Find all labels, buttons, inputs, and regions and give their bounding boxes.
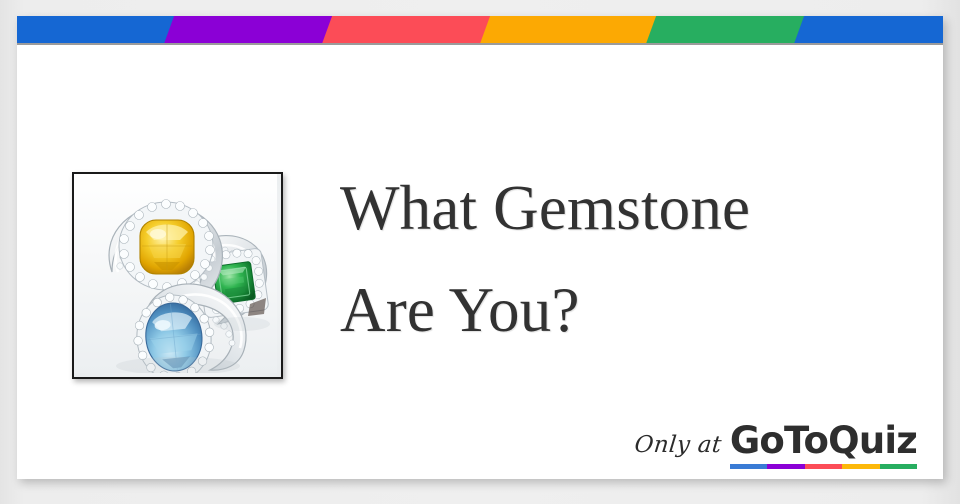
header-bar-segment-purple	[162, 16, 345, 43]
card-body: What Gemstone Are You? Only at GoToQuiz	[17, 45, 943, 479]
brand-underline-segment-0	[730, 464, 767, 469]
rainbow-header-bar	[17, 16, 943, 43]
header-bar-segment-green	[644, 16, 817, 43]
header-bar-segment-red	[320, 16, 503, 43]
only-at-label: Only at	[632, 432, 723, 469]
quiz-title-line1: What Gemstone	[340, 157, 920, 259]
brand-block[interactable]: GoToQuiz	[730, 422, 917, 469]
gemstone-rings-illustration	[74, 174, 277, 373]
page-title: What Gemstone Are You?	[340, 157, 920, 361]
quiz-card: What Gemstone Are You? Only at GoToQuiz	[17, 16, 943, 479]
site-logo[interactable]: Only at GoToQuiz	[634, 422, 917, 469]
thumbnail-image	[74, 174, 281, 377]
brand-name: GoToQuiz	[730, 422, 917, 459]
brand-underline-segment-1	[767, 464, 804, 469]
quiz-thumbnail[interactable]	[72, 172, 283, 379]
brand-rainbow-underline	[730, 464, 917, 469]
brand-underline-segment-2	[805, 464, 842, 469]
brand-underline-segment-4	[880, 464, 917, 469]
header-bar-segment-blue	[17, 16, 188, 43]
header-bar-segment-blue2	[792, 16, 943, 43]
header-bar-segment-orange	[478, 16, 669, 43]
brand-underline-segment-3	[842, 464, 879, 469]
quiz-title-line2: Are You?	[340, 259, 920, 361]
